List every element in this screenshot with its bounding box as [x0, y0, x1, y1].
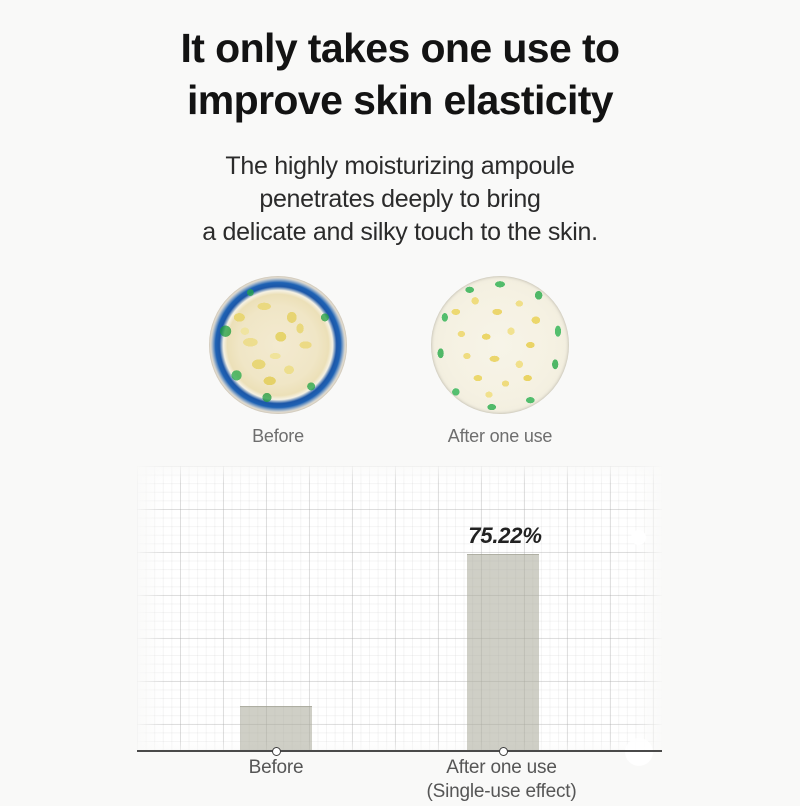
bar-before [240, 706, 312, 751]
axis-label-before-text: Before [249, 757, 304, 778]
skin-microscopy-disc-after-icon [431, 276, 569, 414]
page-title: It only takes one use to improve skin el… [0, 22, 800, 126]
photo-block-after: After one use [420, 276, 580, 447]
bar-after [467, 554, 539, 751]
photo-caption-after: After one use [420, 426, 580, 447]
skin-microscopy-disc-before-icon [209, 276, 347, 414]
bar-value-label-after: 75.22% [455, 523, 555, 549]
axis-label-before: Before [196, 756, 356, 780]
chart-axis-labels: Before After one use (Single-use effect) [0, 756, 800, 806]
chart-grid-background [137, 466, 662, 751]
white-circle-decoration-top [631, 530, 646, 545]
promo-page: It only takes one use to improve skin el… [0, 0, 800, 800]
axis-marker-after [499, 747, 508, 756]
elasticity-bar-chart: 75.22% [137, 466, 662, 751]
before-after-photo-group: Before After one use [0, 276, 800, 436]
axis-marker-before [272, 747, 281, 756]
chart-x-axis [137, 750, 662, 752]
axis-label-after-text: After one use [446, 757, 556, 778]
photo-block-before: Before [198, 276, 358, 447]
page-subtitle: The highly moisturizing ampoule penetrat… [0, 150, 800, 249]
subheadline-line-2: penetrates deeply to bring [0, 183, 800, 216]
subheadline-line-1: The highly moisturizing ampoule [0, 150, 800, 183]
headline-line-1: It only takes one use to [0, 22, 800, 74]
headline-line-2: improve skin elasticity [0, 74, 800, 126]
photo-caption-before: Before [198, 426, 358, 447]
axis-label-after: After one use (Single-use effect) [419, 756, 584, 804]
subheadline-line-3: a delicate and silky touch to the skin. [0, 216, 800, 249]
axis-label-after-sublabel: (Single-use effect) [419, 780, 584, 804]
